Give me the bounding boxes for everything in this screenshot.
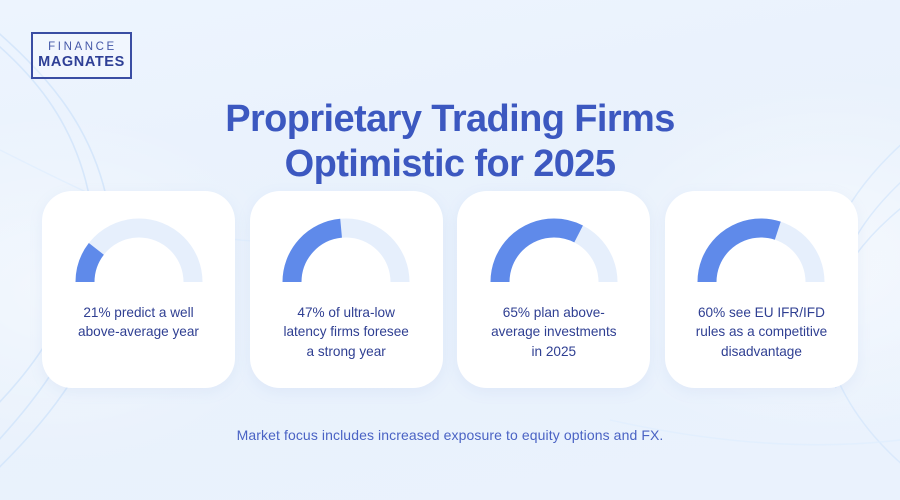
stat-card-label-line: rules as a competitive (673, 322, 850, 341)
gauge-chart (282, 218, 410, 286)
gauge-chart (697, 218, 825, 286)
stat-card-label-line: disadvantage (673, 342, 850, 361)
stat-card-label-line: 65% plan above- (465, 303, 642, 322)
logo-text-magnates: MAGNATES (38, 54, 125, 71)
stat-card-label-line: a strong year (258, 342, 435, 361)
page-title-line-1: Proprietary Trading Firms (225, 98, 675, 140)
stat-card[interactable]: 65% plan above- average investments in 2… (457, 191, 650, 388)
logo-text-finance: FINANCE (46, 40, 117, 54)
stat-card-label-line: latency firms foresee (258, 322, 435, 341)
stat-card-label: 47% of ultra-low latency firms foresee a… (258, 303, 435, 361)
stat-card-label: 21% predict a well above-average year (50, 303, 227, 342)
stat-card-label-line: 21% predict a well (50, 303, 227, 322)
stat-card[interactable]: 47% of ultra-low latency firms foresee a… (250, 191, 443, 388)
stat-card[interactable]: 60% see EU IFR/IFD rules as a competitiv… (665, 191, 858, 388)
stat-card-label: 65% plan above- average investments in 2… (465, 303, 642, 361)
gauge-chart (75, 218, 203, 286)
gauge-chart (490, 218, 618, 286)
stat-card[interactable]: 21% predict a well above-average year (42, 191, 235, 388)
stat-card-label-line: 47% of ultra-low (258, 303, 435, 322)
stat-card-label-line: 60% see EU IFR/IFD (673, 303, 850, 322)
stat-card-row: 21% predict a well above-average year 47… (42, 191, 858, 388)
stat-card-label-line: in 2025 (465, 342, 642, 361)
stat-card-label-line: average investments (465, 322, 642, 341)
page-title-line-2: Optimistic for 2025 (0, 142, 900, 186)
stat-card-label-line: above-average year (50, 322, 227, 341)
page-title: Proprietary Trading Firms Optimistic for… (0, 97, 900, 185)
footer-caption: Market focus includes increased exposure… (0, 427, 900, 443)
stat-card-label: 60% see EU IFR/IFD rules as a competitiv… (673, 303, 850, 361)
brand-logo[interactable]: FINANCE MAGNATES (31, 32, 132, 79)
infographic-canvas: FINANCE MAGNATES Proprietary Trading Fir… (0, 0, 900, 500)
